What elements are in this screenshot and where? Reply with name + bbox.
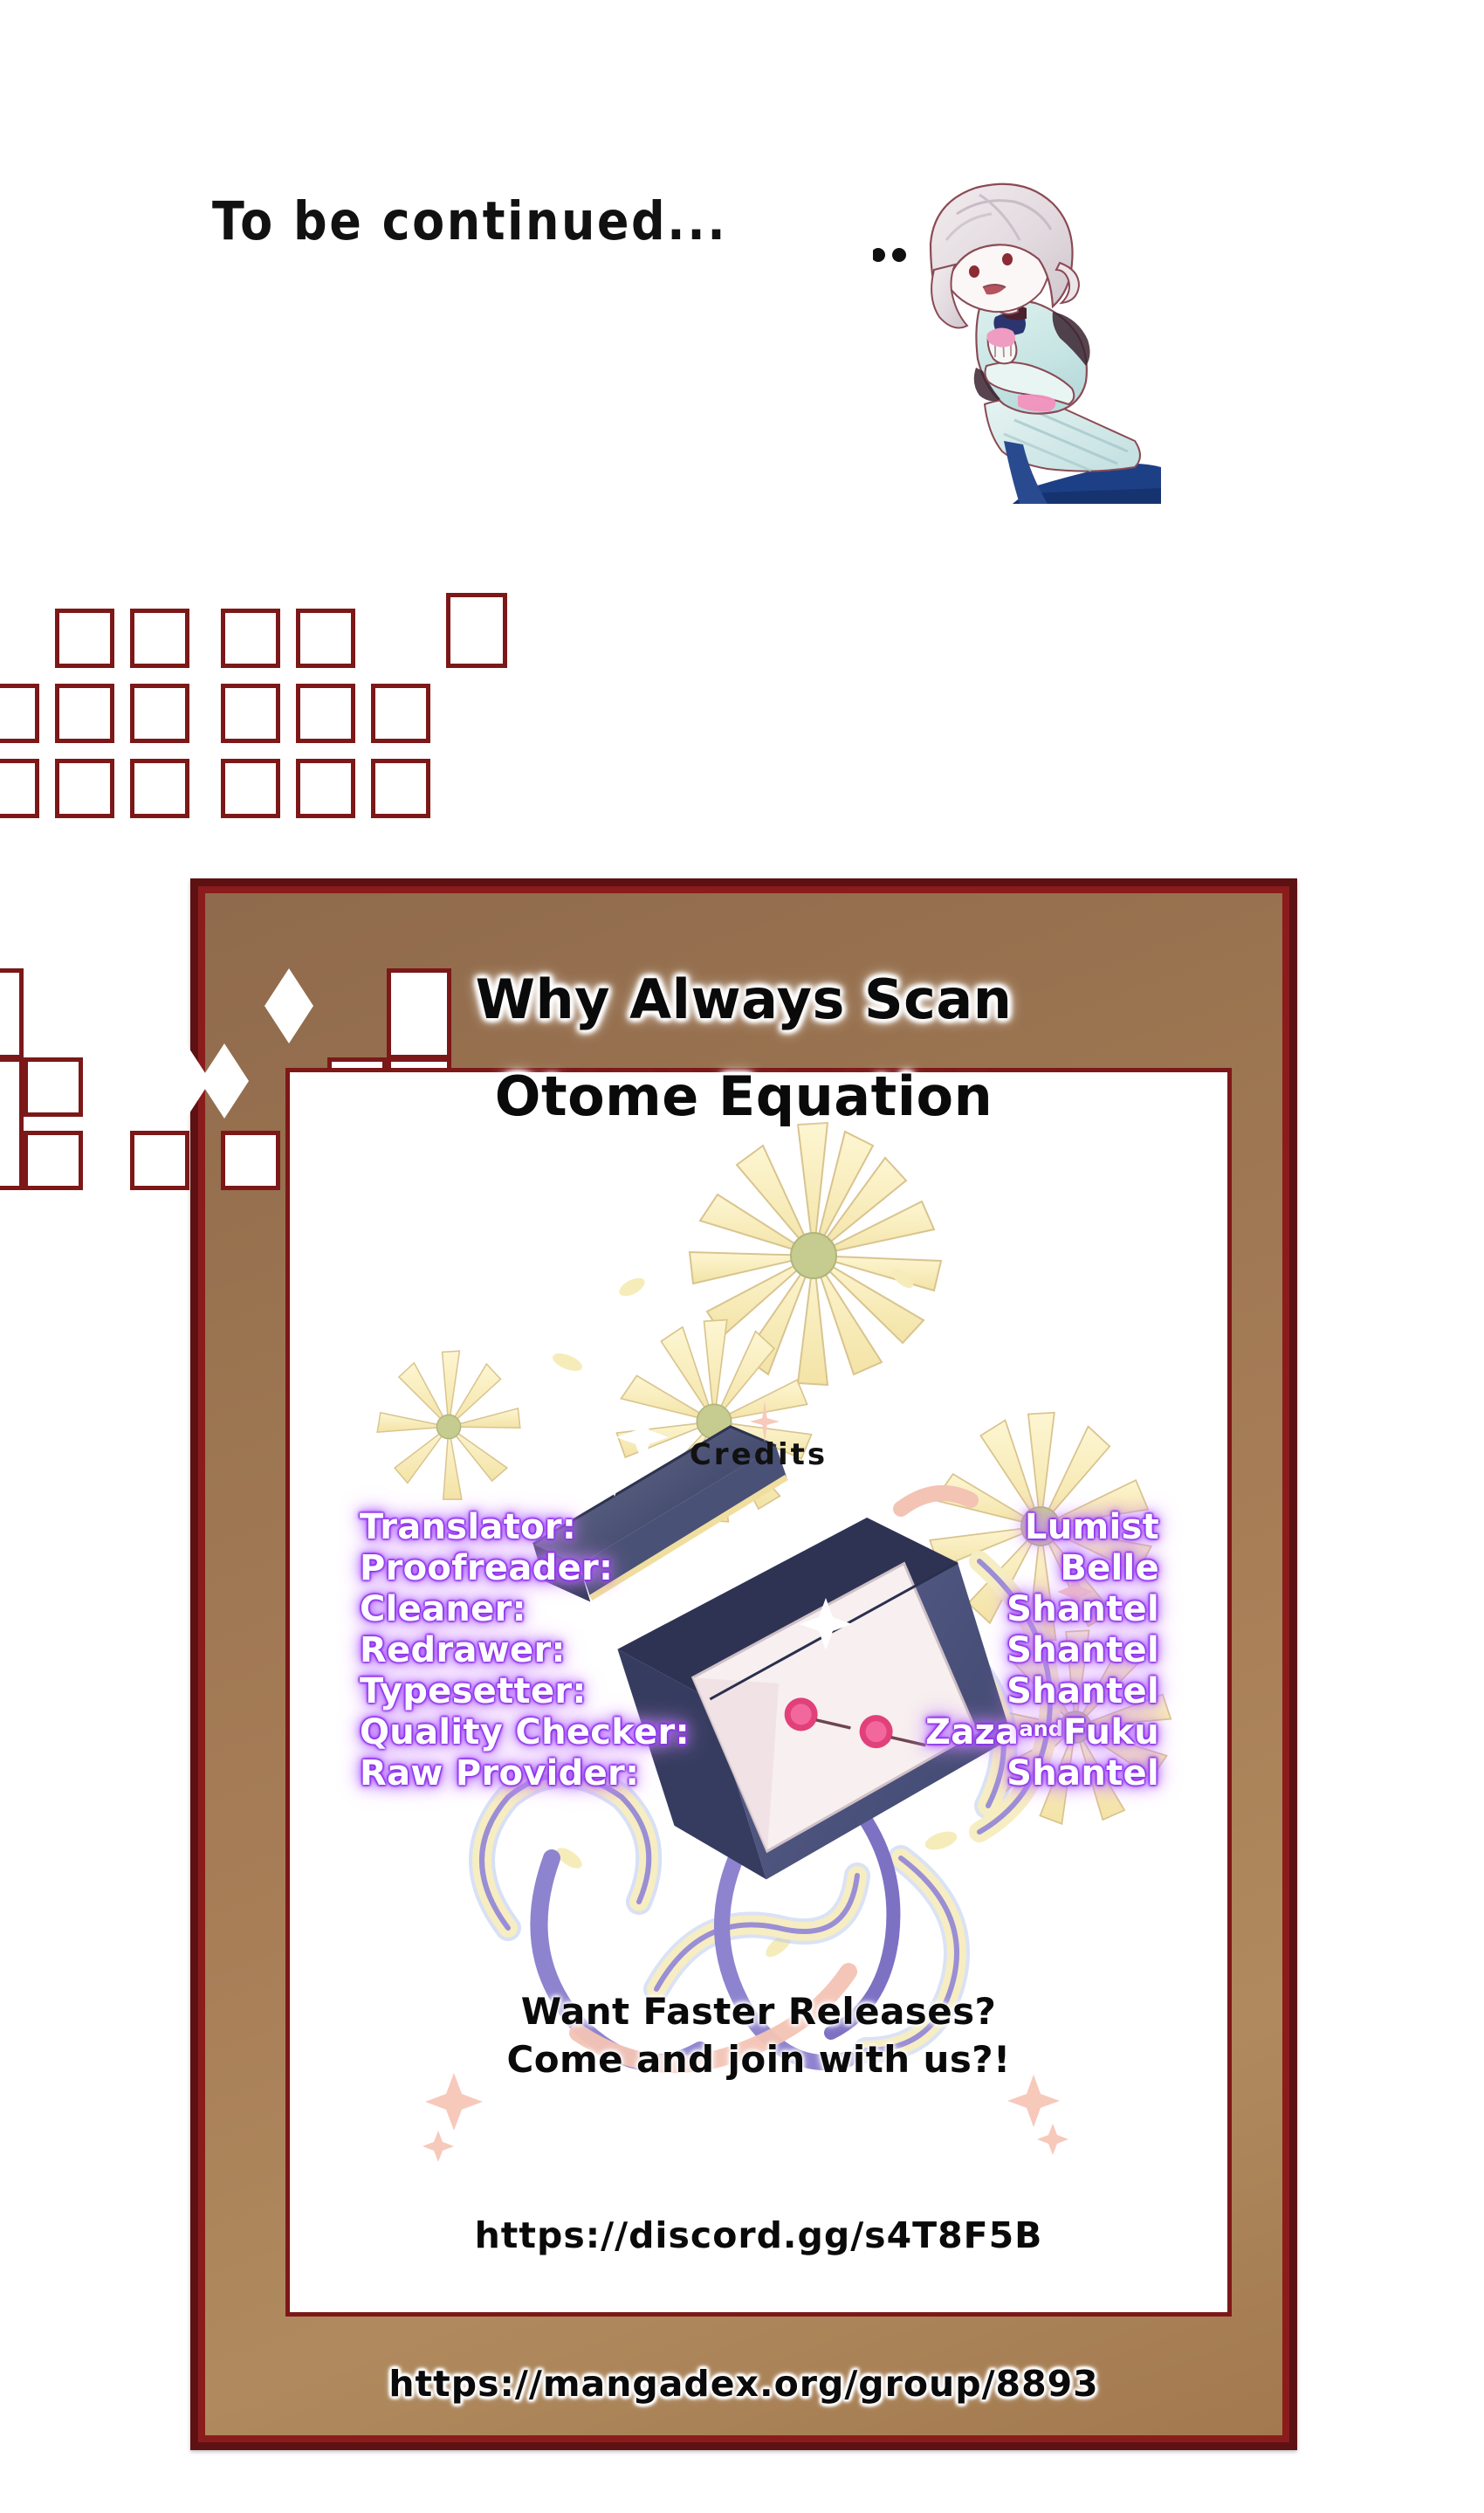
credit-person: Shantel <box>1007 1753 1159 1794</box>
credit-role: Quality Checker: <box>360 1712 690 1752</box>
credit-role: Proofreader: <box>360 1548 613 1588</box>
square-cutout <box>296 759 355 818</box>
credit-row: Translator: Lumist <box>360 1507 1159 1548</box>
square-cutout <box>371 684 430 743</box>
square-cutout <box>296 684 355 743</box>
credit-row: Cleaner: Shantel <box>360 1589 1159 1630</box>
join-line-1: Want Faster Releases? <box>290 1987 1227 2035</box>
scan-group-title: Why Always Scan <box>205 967 1282 1031</box>
credit-role: Raw Provider: <box>360 1753 639 1794</box>
credit-role: Typesetter: <box>360 1671 587 1711</box>
square-cutout <box>296 609 355 668</box>
credit-person-connector: and <box>1019 1717 1062 1741</box>
credit-person: Belle <box>1060 1548 1159 1588</box>
notch-cutout <box>0 968 24 1059</box>
credit-row: Redrawer: Shantel <box>360 1630 1159 1671</box>
square-cutout <box>55 759 114 818</box>
to-be-continued-text: To be continued... <box>212 190 727 252</box>
sparkle-icon <box>750 1401 780 1442</box>
square-cutout <box>221 759 280 818</box>
square-cutout <box>221 684 280 743</box>
credit-person-secondary: Fuku <box>1063 1712 1159 1752</box>
square-cutout <box>55 684 114 743</box>
mangadex-link[interactable]: https://mangadex.org/group/8893 <box>190 2363 1297 2405</box>
square-cutout <box>221 609 280 668</box>
notch-cutout <box>387 968 451 1059</box>
credit-person: ZazaandFuku <box>925 1712 1159 1752</box>
notch-cutout <box>0 1057 24 1190</box>
square-cutout <box>24 1057 83 1117</box>
square-cutout <box>130 1131 189 1190</box>
credits-heading: Credits <box>290 1437 1227 1472</box>
square-cutout <box>0 684 39 743</box>
frame-wood-panel: Credits Translator: Lumist Proofreader: … <box>205 893 1282 2435</box>
square-cutout <box>0 759 39 818</box>
credit-row: Raw Provider: Shantel <box>360 1753 1159 1794</box>
square-cutout <box>130 684 189 743</box>
credit-person-primary: Zaza <box>925 1712 1019 1752</box>
manga-credits-page: To be continued... <box>0 0 1484 2513</box>
credits-card: Credits Translator: Lumist Proofreader: … <box>190 878 1297 2450</box>
discord-link[interactable]: https://discord.gg/s4T8F5B <box>290 2214 1227 2256</box>
square-cutout <box>24 1131 83 1190</box>
join-line-2: Come and join with us?! <box>290 2035 1227 2083</box>
credit-row: Quality Checker: ZazaandFuku <box>360 1712 1159 1753</box>
credit-person: Lumist <box>1025 1507 1159 1547</box>
credit-row: Proofreader: Belle <box>360 1548 1159 1589</box>
join-us-block: Want Faster Releases? Come and join with… <box>290 1987 1227 2084</box>
credit-role: Redrawer: <box>360 1630 566 1670</box>
credit-row: Typesetter: Shantel <box>360 1671 1159 1712</box>
credits-list: Translator: Lumist Proofreader: Belle Cl… <box>360 1507 1159 1794</box>
diamond-cutout <box>97 968 146 1043</box>
square-cutout <box>130 759 189 818</box>
credit-person: Shantel <box>1007 1630 1159 1670</box>
girl-character-illustration <box>873 179 1178 546</box>
square-cutout <box>130 609 189 668</box>
square-cutout <box>221 1131 280 1190</box>
credit-role: Translator: <box>360 1507 576 1547</box>
credit-person: Shantel <box>1007 1671 1159 1711</box>
credits-paper: Credits Translator: Lumist Proofreader: … <box>285 1068 1232 2317</box>
credit-person: Shantel <box>1007 1589 1159 1629</box>
diamond-cutout <box>265 968 313 1043</box>
square-cutout <box>55 609 114 668</box>
square-cutout <box>371 759 430 818</box>
credit-role: Cleaner: <box>360 1589 526 1629</box>
notch-cutout <box>446 593 507 668</box>
